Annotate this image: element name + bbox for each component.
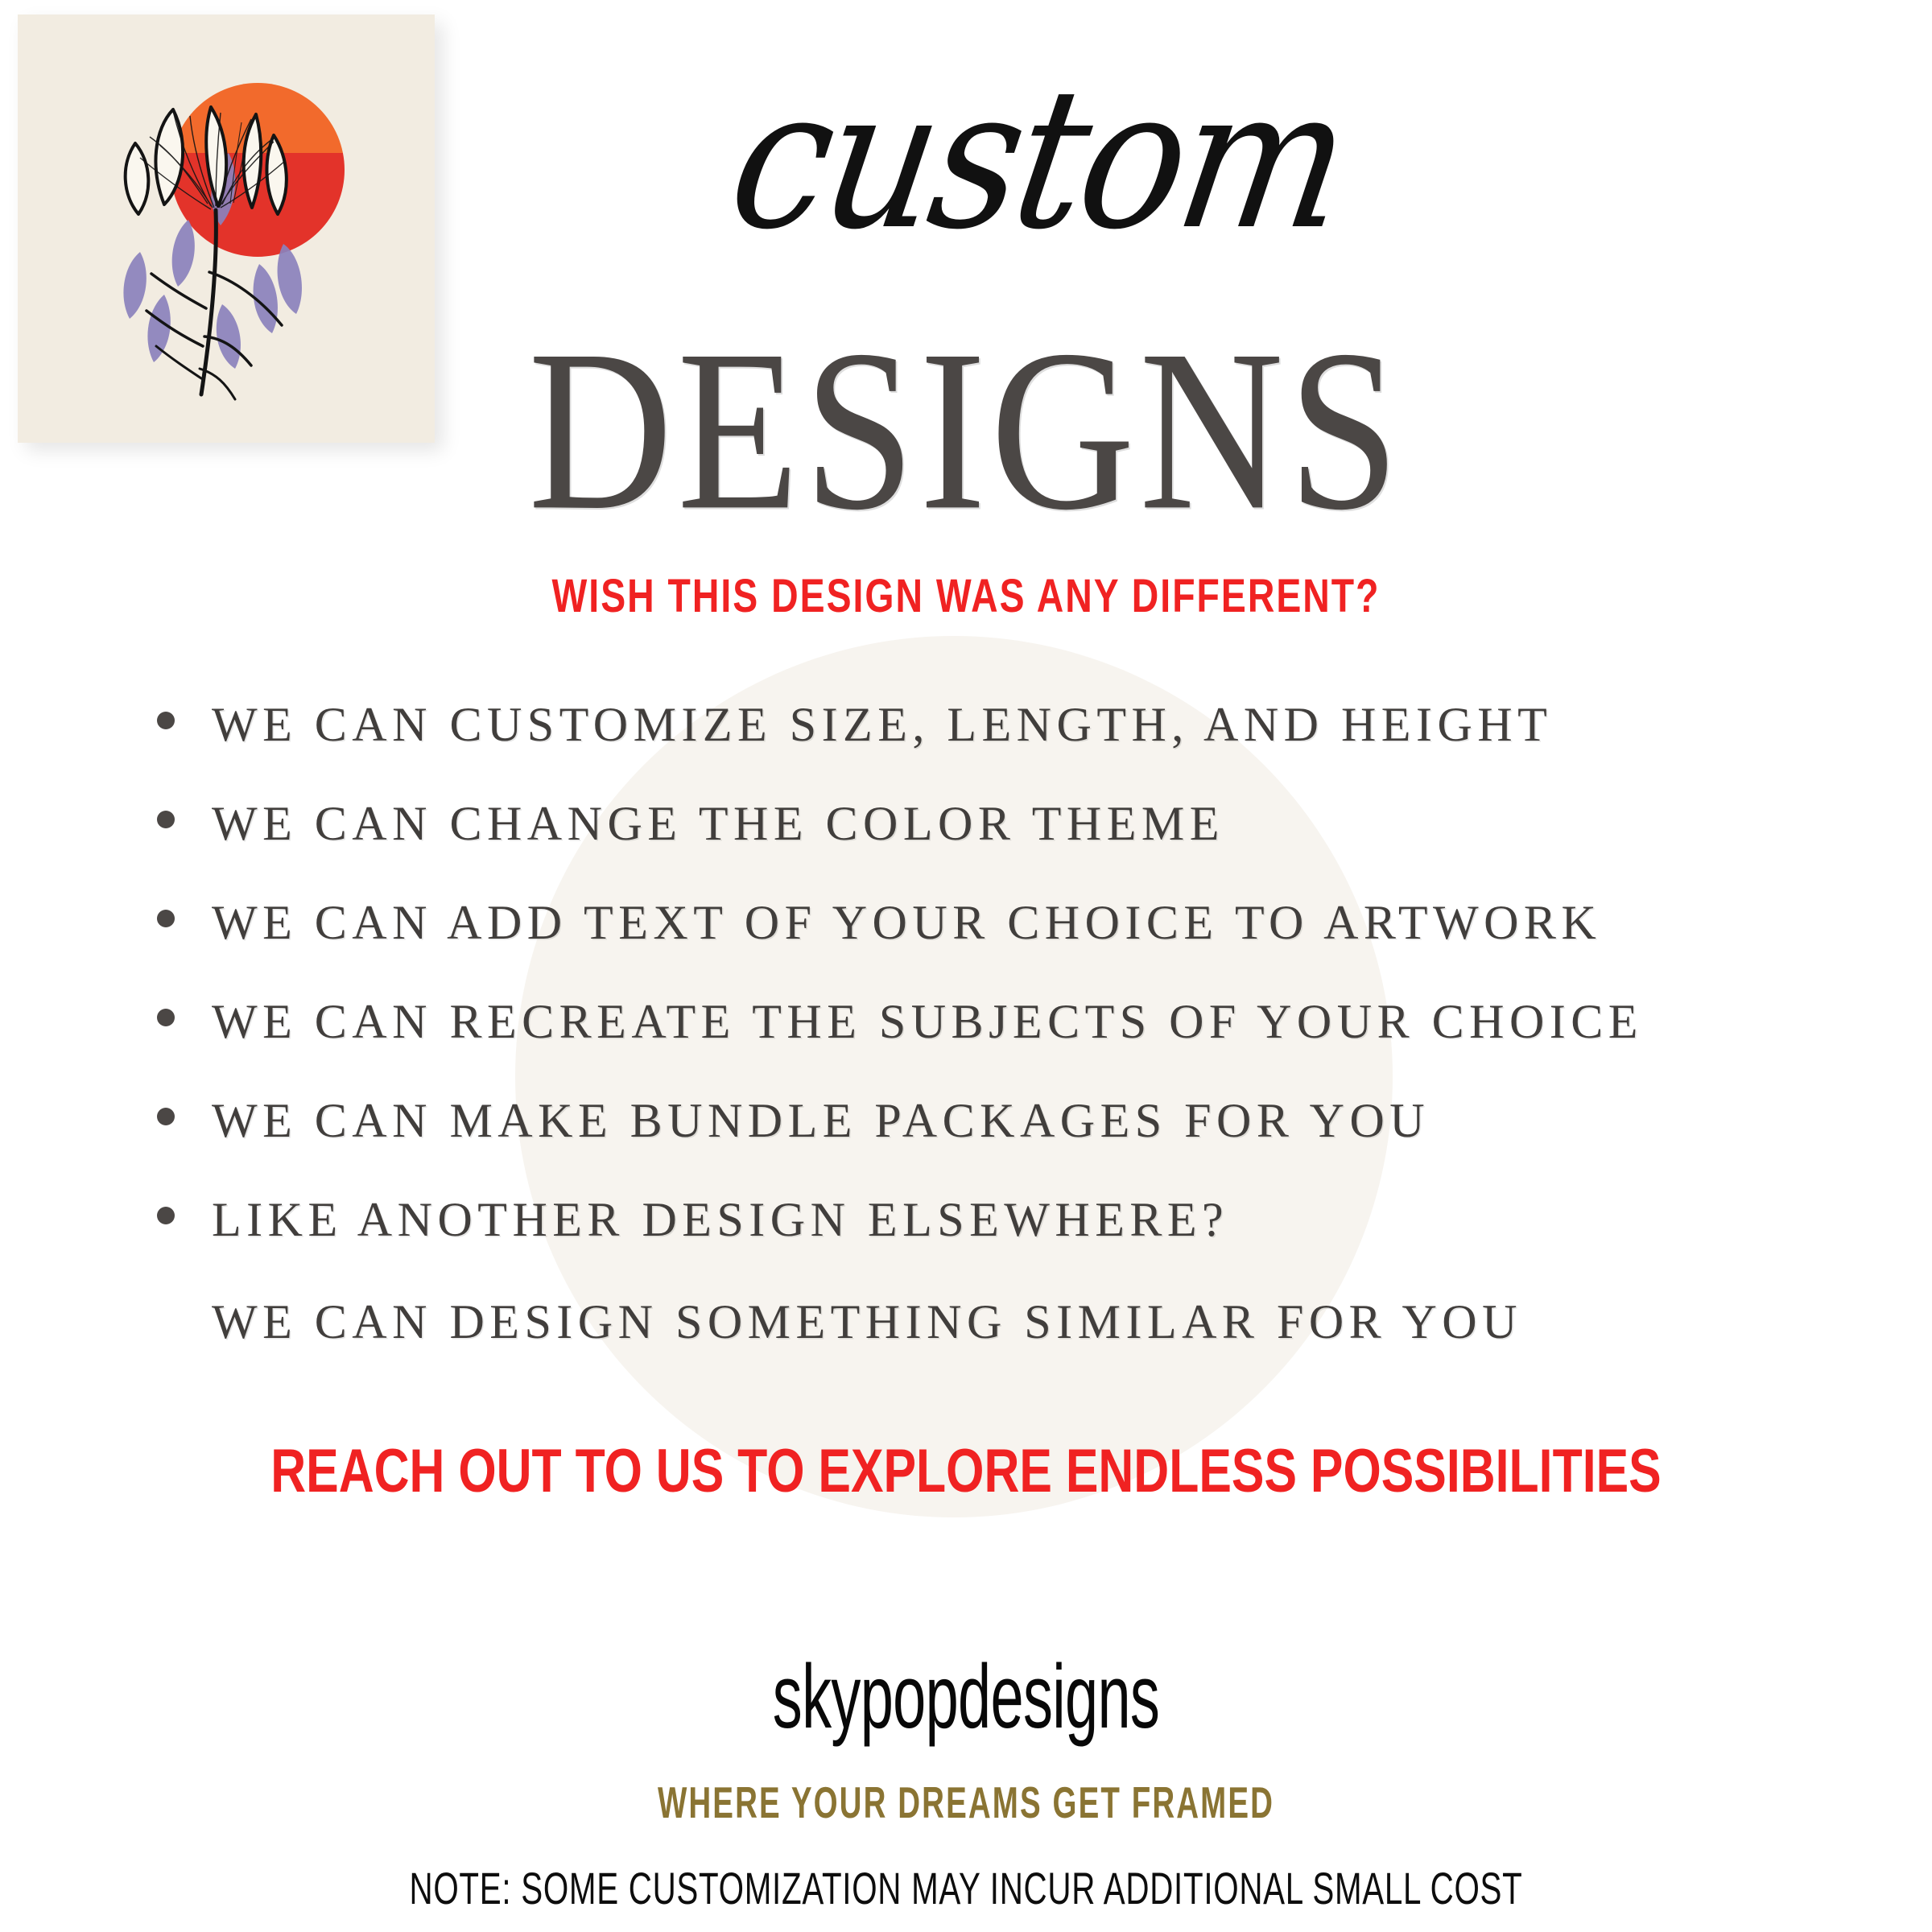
list-item-label: WE CAN RECREATE THE SUBJECTS OF YOUR CHO… — [212, 997, 1643, 1046]
list-item: LIKE ANOTHER DESIGN ELSEWHERE? — [157, 1195, 1880, 1294]
list-item-label: WE CAN CHANGE THE COLOR THEME — [212, 799, 1224, 848]
feature-list: WE CAN CUSTOMIZE SIZE, LENGTH, AND HEIGH… — [157, 700, 1880, 1294]
bullet-icon — [157, 1009, 175, 1026]
script-title: custom — [0, 62, 1932, 256]
subtitle: WISH THIS DESIGN WAS ANY DIFFERENT? — [193, 573, 1739, 620]
bullet-icon — [157, 712, 175, 729]
brand-logo-text: skypopdesigns — [328, 1652, 1604, 1742]
list-item: WE CAN CUSTOMIZE SIZE, LENGTH, AND HEIGH… — [157, 700, 1880, 799]
list-item-continuation: WE CAN DESIGN SOMETHING SIMILAR FOR YOU — [212, 1298, 1522, 1346]
list-item-label: WE CAN CUSTOMIZE SIZE, LENGTH, AND HEIGH… — [212, 700, 1552, 749]
bullet-icon — [157, 1207, 175, 1224]
brand-tagline: WHERE YOUR DREAMS GET FRAMED — [290, 1781, 1642, 1825]
list-item-label: WE CAN MAKE BUNDLE PACKAGES FOR YOU — [212, 1096, 1430, 1145]
list-item: WE CAN MAKE BUNDLE PACKAGES FOR YOU — [157, 1096, 1880, 1195]
bullet-icon — [157, 811, 175, 828]
list-item: WE CAN ADD TEXT OF YOUR CHOICE TO ARTWOR… — [157, 898, 1880, 997]
call-to-action: REACH OUT TO US TO EXPLORE ENDLESS POSSI… — [193, 1441, 1739, 1502]
page-title: DESIGNS — [77, 316, 1855, 546]
list-item: WE CAN RECREATE THE SUBJECTS OF YOUR CHO… — [157, 997, 1880, 1096]
script-title-text: custom — [720, 62, 1356, 256]
footer-note: NOTE: SOME CUSTOMIZATION MAY INCUR ADDIT… — [270, 1866, 1662, 1911]
list-item-label: WE CAN ADD TEXT OF YOUR CHOICE TO ARTWOR… — [212, 898, 1601, 947]
bullet-icon — [157, 1108, 175, 1125]
bullet-icon — [157, 910, 175, 927]
list-item: WE CAN CHANGE THE COLOR THEME — [157, 799, 1880, 898]
list-item-label: LIKE ANOTHER DESIGN ELSEWHERE? — [212, 1195, 1228, 1244]
